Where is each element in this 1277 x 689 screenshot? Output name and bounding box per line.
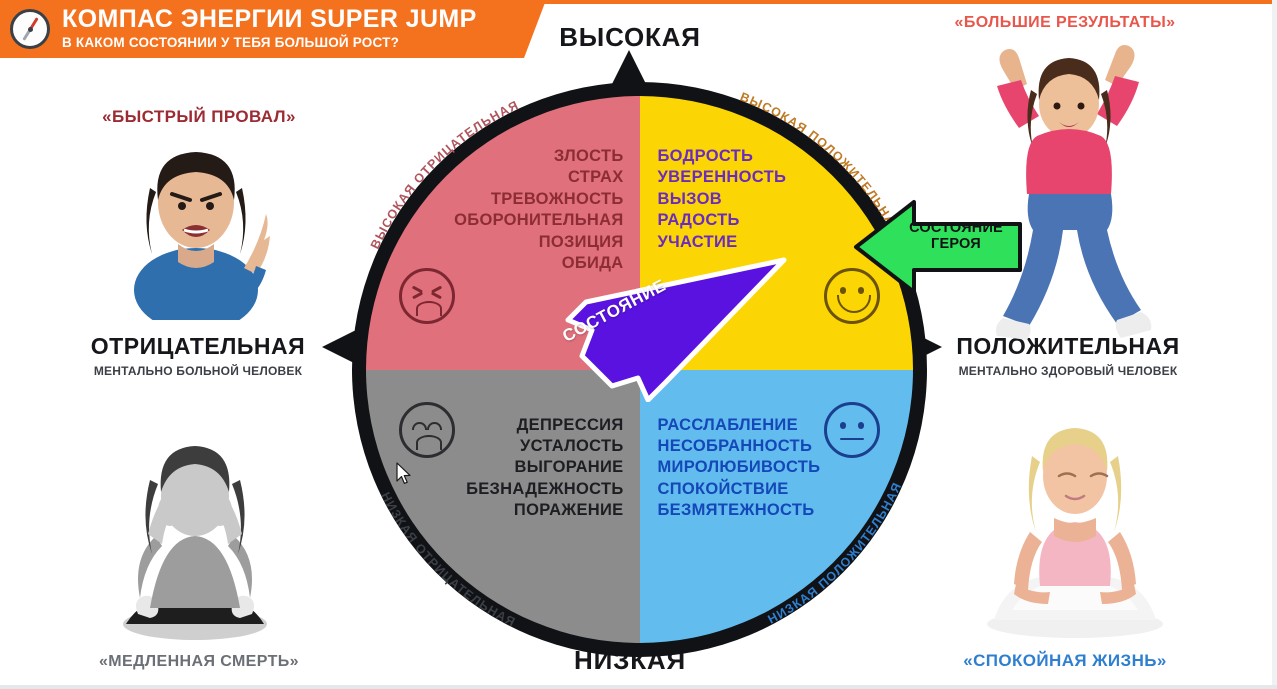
list-item: ВЫЗОВ (658, 189, 787, 210)
list-item: ОБОРОНИТЕЛЬНАЯ (454, 210, 623, 231)
list-item: НЕСОБРАННОСТЬ (658, 436, 821, 457)
jumping-woman-photo (955, 44, 1185, 344)
quadrant-low-negative[interactable]: ДЕПРЕССИЯ УСТАЛОСТЬ ВЫГОРАНИЕ БЕЗНАДЕЖНО… (366, 370, 640, 644)
banner-title: КОМПАС ЭНЕРГИИ SUPER JUMP (62, 6, 477, 32)
caption-slow-death: «МЕДЛЕННАЯ СМЕРТЬ» (34, 653, 364, 671)
quadrant-low-negative-list: ДЕПРЕССИЯ УСТАЛОСТЬ ВЫГОРАНИЕ БЕЗНАДЕЖНО… (466, 415, 623, 522)
list-item: УСТАЛОСТЬ (466, 436, 623, 457)
list-item: БЕЗНАДЕЖНОСТЬ (466, 479, 623, 500)
infographic-canvas: КОМПАС ЭНЕРГИИ SUPER JUMP В КАКОМ СОСТОЯ… (0, 0, 1277, 689)
right-edge-strip (1272, 0, 1277, 689)
list-item: ПОЗИЦИЯ (454, 232, 623, 253)
angry-woman-photo (104, 140, 289, 320)
axis-arrow-top (612, 50, 646, 84)
list-item: СПОКОЙСТВИЕ (658, 479, 821, 500)
list-item: РАДОСТЬ (658, 210, 787, 231)
caption-calm-life: «СПОКОЙНАЯ ЖИЗНЬ» (900, 651, 1230, 671)
state-arrow[interactable]: СОСТОЯНИЕ (516, 252, 816, 402)
axis-arrow-left (322, 330, 356, 364)
list-item: ТРЕВОЖНОСТЬ (454, 189, 623, 210)
compass-icon (10, 9, 50, 49)
list-item: УЧАСТИЕ (658, 232, 787, 253)
hero-arrow-label-line2: ГЕРОЯ (931, 236, 981, 252)
axis-label-negative-group: ОТРИЦАТЕЛЬНАЯ МЕНТАЛЬНО БОЛЬНОЙ ЧЕЛОВЕК (30, 333, 366, 378)
axis-label-high: ВЫСОКАЯ (500, 22, 760, 53)
list-item: ПОРАЖЕНИЕ (466, 500, 623, 521)
banner-text-group: КОМПАС ЭНЕРГИИ SUPER JUMP В КАКОМ СОСТОЯ… (62, 6, 477, 51)
axis-sublabel-negative: МЕНТАЛЬНО БОЛЬНОЙ ЧЕЛОВЕК (30, 364, 366, 378)
list-item: ЗЛОСТЬ (454, 146, 623, 167)
list-item: СТРАХ (454, 167, 623, 188)
hero-arrow-label-line1: СОСТОЯНИЕ (909, 220, 1003, 236)
list-item: ВЫГОРАНИЕ (466, 457, 623, 478)
list-item: БЕЗМЯТЕЖНОСТЬ (658, 500, 821, 521)
meditating-woman-photo (960, 400, 1190, 638)
hero-arrow[interactable]: СОСТОЯНИЕ ГЕРОЯ (852, 196, 1024, 298)
list-item: МИРОЛЮБИВОСТЬ (658, 457, 821, 478)
caption-fast-failure: «БЫСТРЫЙ ПРОВАЛ» (34, 107, 364, 127)
list-item: УВЕРЕННОСТЬ (658, 167, 787, 188)
neutral-face-icon (824, 402, 880, 458)
caption-big-results: «БОЛЬШИЕ РЕЗУЛЬТАТЫ» (900, 14, 1230, 32)
angry-face-icon (399, 268, 455, 324)
axis-label-negative: ОТРИЦАТЕЛЬНАЯ (30, 333, 366, 360)
header-banner: КОМПАС ЭНЕРГИИ SUPER JUMP В КАКОМ СОСТОЯ… (0, 0, 524, 58)
mouse-cursor (396, 462, 412, 486)
quadrant-low-positive-list: РАССЛАБЛЕНИЕ НЕСОБРАННОСТЬ МИРОЛЮБИВОСТЬ… (658, 415, 821, 522)
sad-face-icon (399, 402, 455, 458)
hero-arrow-label: СОСТОЯНИЕ ГЕРОЯ (896, 220, 1016, 252)
quadrant-low-positive[interactable]: РАССЛАБЛЕНИЕ НЕСОБРАННОСТЬ МИРОЛЮБИВОСТЬ… (640, 370, 914, 644)
axis-sublabel-positive: МЕНТАЛЬНО ЗДОРОВЫЙ ЧЕЛОВЕК (900, 364, 1236, 378)
quadrant-high-positive-list: БОДРОСТЬ УВЕРЕННОСТЬ ВЫЗОВ РАДОСТЬ УЧАСТ… (658, 146, 787, 253)
banner-subtitle: В КАКОМ СОСТОЯНИИ У ТЕБЯ БОЛЬШОЙ РОСТ? (62, 35, 477, 52)
list-item: БОДРОСТЬ (658, 146, 787, 167)
list-item: ДЕПРЕССИЯ (466, 415, 623, 436)
depressed-woman-photo (100, 418, 290, 642)
bottom-edge-strip (0, 685, 1277, 689)
list-item: РАССЛАБЛЕНИЕ (658, 415, 821, 436)
